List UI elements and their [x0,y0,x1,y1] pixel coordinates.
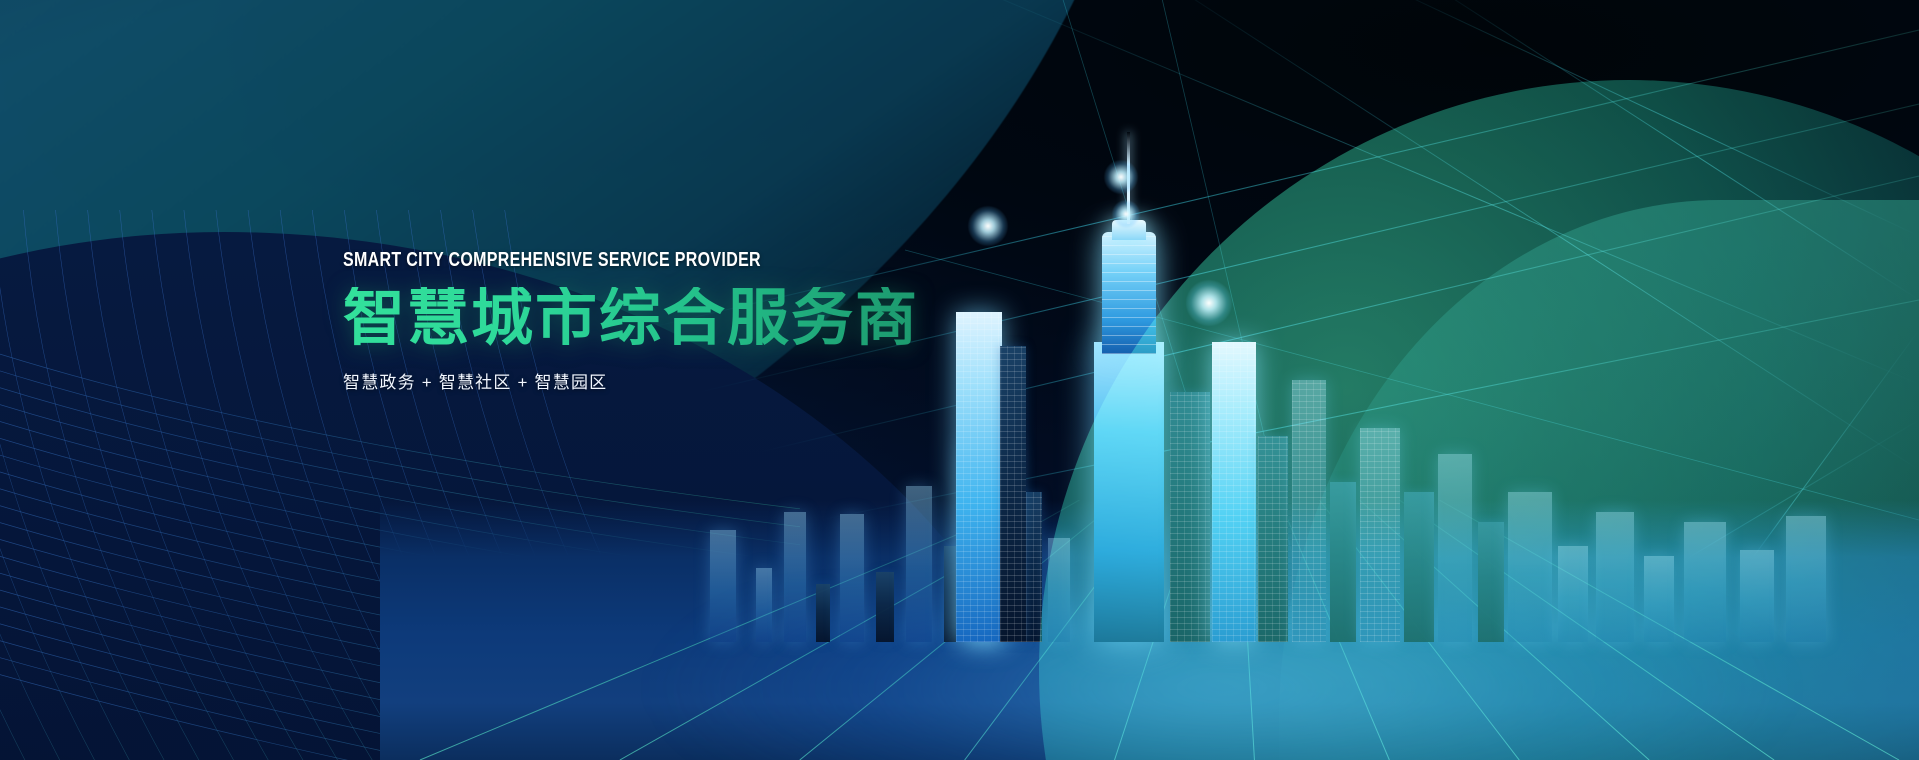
lens-flare [968,206,1008,246]
page-title: 智慧城市综合服务商 [343,287,1103,351]
building-block [876,572,894,642]
lens-flare [1104,160,1138,194]
building-block [840,514,864,642]
subtitle-services: 智慧政务 + 智慧社区 + 智慧园区 [343,368,1103,393]
smart-city-hero-banner: SMART CITY COMPREHENSIVE SERVICE PROVIDE… [0,0,1919,760]
building-block [710,530,736,642]
headline-copy-block: SMART CITY COMPREHENSIVE SERVICE PROVIDE… [343,250,1103,393]
building-block [816,584,830,642]
lens-flare [1112,200,1140,228]
eyebrow-english-tagline: SMART CITY COMPREHENSIVE SERVICE PROVIDE… [343,250,951,270]
building-block [756,568,772,642]
building-block [906,486,932,642]
building-block [784,512,806,642]
